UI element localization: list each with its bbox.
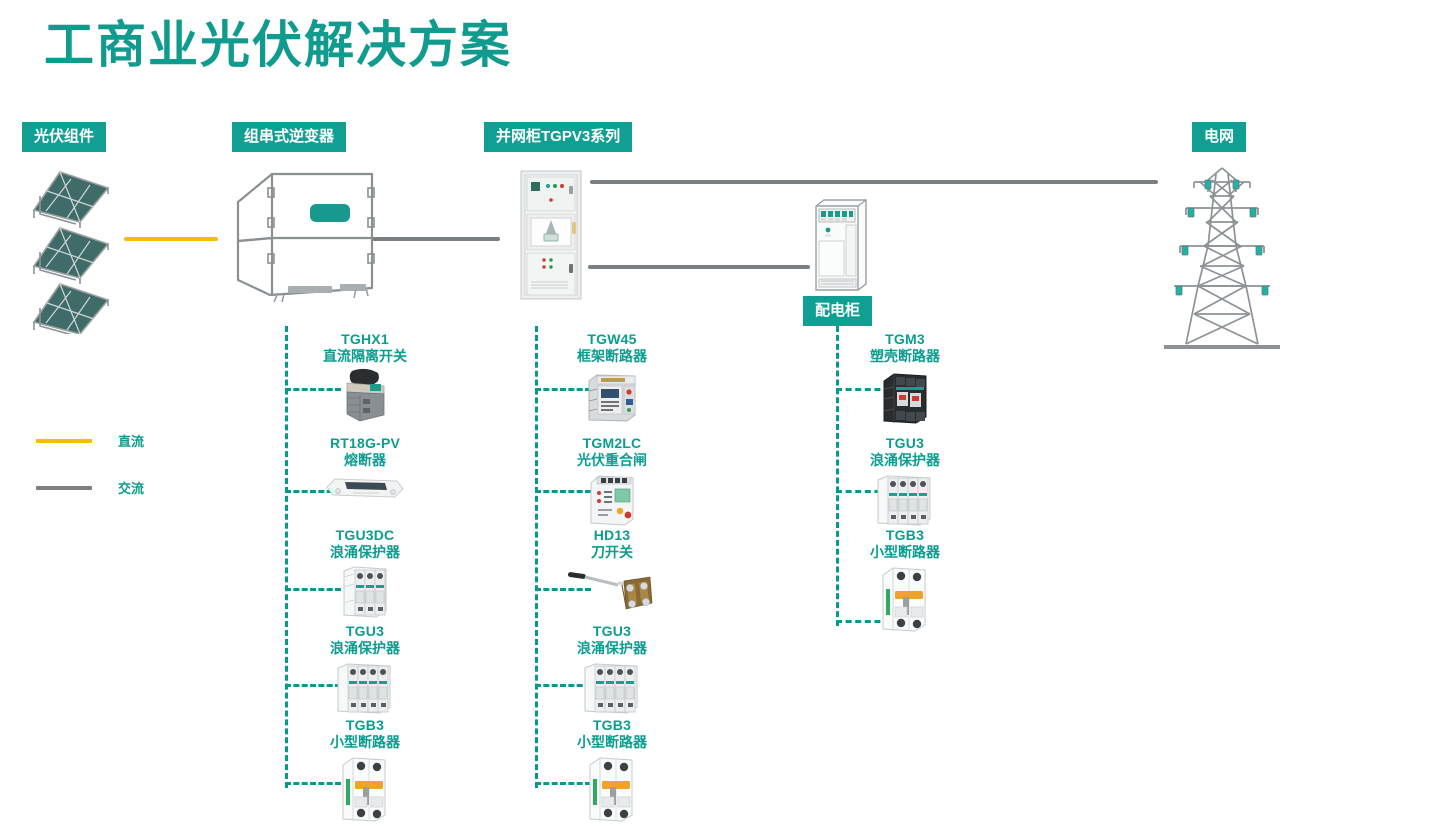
legend-label-dc: 直流	[118, 431, 144, 450]
wire-ac-grid-cabinet-to-dist-cabinet	[588, 265, 810, 269]
product-model: TGW45	[537, 331, 687, 348]
string-inverter-graphic	[232, 162, 380, 304]
dist-cabinet-graphic	[808, 196, 870, 292]
product-desc: 浪涌保护器	[290, 544, 440, 561]
dist-cabinet-icon	[808, 196, 870, 292]
legend-dc: 直流	[36, 431, 144, 450]
legend-swatch-dc	[36, 439, 92, 443]
badge-dist-cabinet: 配电柜	[803, 296, 872, 326]
knife-switch-icon	[537, 563, 687, 617]
mcb-2p-icon	[290, 753, 440, 825]
badge-power-grid: 电网	[1192, 122, 1246, 152]
grid-cabinet-graphic	[520, 170, 582, 300]
badge-inverter: 组串式逆变器	[232, 122, 346, 152]
spd-3p-icon	[290, 563, 440, 621]
product-rt18g-pv: RT18G-PV 熔断器	[290, 435, 440, 505]
product-tgb3-grid: TGB3 小型断路器	[537, 717, 687, 825]
product-desc: 塑壳断路器	[830, 348, 980, 365]
product-tgu3-inverter: TGU3 浪涌保护器	[290, 623, 440, 717]
product-desc: 浪涌保护器	[830, 452, 980, 469]
product-hd13: HD13 刀开关	[537, 527, 687, 617]
product-model: TGU3	[830, 435, 980, 452]
product-tgb3-inverter: TGB3 小型断路器	[290, 717, 440, 825]
product-desc: 浪涌保护器	[290, 640, 440, 657]
product-tgu3-grid: TGU3 浪涌保护器	[537, 623, 687, 717]
product-desc: 框架断路器	[537, 348, 687, 365]
product-model: RT18G-PV	[290, 435, 440, 452]
product-desc: 浪涌保护器	[537, 640, 687, 657]
product-desc: 直流隔离开关	[290, 348, 440, 365]
spd-4p-icon	[290, 659, 440, 717]
product-desc: 刀开关	[537, 544, 687, 561]
product-model: TGU3	[537, 623, 687, 640]
product-tgm3: TGM3 塑壳断路器	[830, 331, 980, 427]
product-desc: 小型断路器	[290, 734, 440, 751]
pv-array-graphic	[22, 164, 122, 334]
pv-panels-icon	[22, 164, 122, 334]
inverter-icon	[232, 162, 380, 304]
product-tgb3-dist: TGB3 小型断路器	[830, 527, 980, 635]
product-model: TGB3	[830, 527, 980, 544]
product-desc: 小型断路器	[830, 544, 980, 561]
product-model: TGB3	[537, 717, 687, 734]
solution-diagram: 工商业光伏解决方案 光伏组件 组串式逆变器 并网柜TGPV3系列 配电柜 电网	[0, 0, 1436, 829]
product-desc: 熔断器	[290, 452, 440, 469]
recloser-icon	[537, 471, 687, 529]
product-model: TGM2LC	[537, 435, 687, 452]
product-model: TGU3	[290, 623, 440, 640]
badge-grid-cabinet: 并网柜TGPV3系列	[484, 122, 632, 152]
power-tower-icon	[1160, 160, 1284, 360]
legend-ac: 交流	[36, 478, 144, 497]
product-tgu3-dist: TGU3 浪涌保护器	[830, 435, 980, 529]
spd-4p-icon	[830, 471, 980, 529]
product-model: TGB3	[290, 717, 440, 734]
product-tgw45: TGW45 框架断路器	[537, 331, 687, 423]
dc-isolator-icon	[290, 367, 440, 423]
legend-swatch-ac	[36, 486, 92, 490]
product-tghx1: TGHX1 直流隔离开关	[290, 331, 440, 423]
legend-label-ac: 交流	[118, 478, 144, 497]
wire-ac-grid-cabinet-to-tower	[590, 180, 1158, 184]
wire-dc-pv-to-inverter	[124, 237, 218, 241]
grid-cabinet-icon	[520, 170, 582, 300]
product-model: HD13	[537, 527, 687, 544]
acb-icon	[537, 367, 687, 423]
page-title: 工商业光伏解决方案	[44, 20, 512, 70]
mcb-2p-icon	[830, 563, 980, 635]
product-desc: 小型断路器	[537, 734, 687, 751]
product-tgm2lc: TGM2LC 光伏重合闸	[537, 435, 687, 529]
wire-ac-inverter-to-grid-cabinet	[372, 237, 500, 241]
mccb-icon	[830, 367, 980, 427]
mcb-2p-icon	[537, 753, 687, 825]
badge-pv-modules: 光伏组件	[22, 122, 106, 152]
product-model: TGM3	[830, 331, 980, 348]
product-model: TGHX1	[290, 331, 440, 348]
product-model: TGU3DC	[290, 527, 440, 544]
spd-4p-icon	[537, 659, 687, 717]
transmission-tower-graphic	[1160, 160, 1284, 360]
fuse-holder-icon	[290, 471, 440, 505]
product-desc: 光伏重合闸	[537, 452, 687, 469]
product-tgu3dc: TGU3DC 浪涌保护器	[290, 527, 440, 621]
